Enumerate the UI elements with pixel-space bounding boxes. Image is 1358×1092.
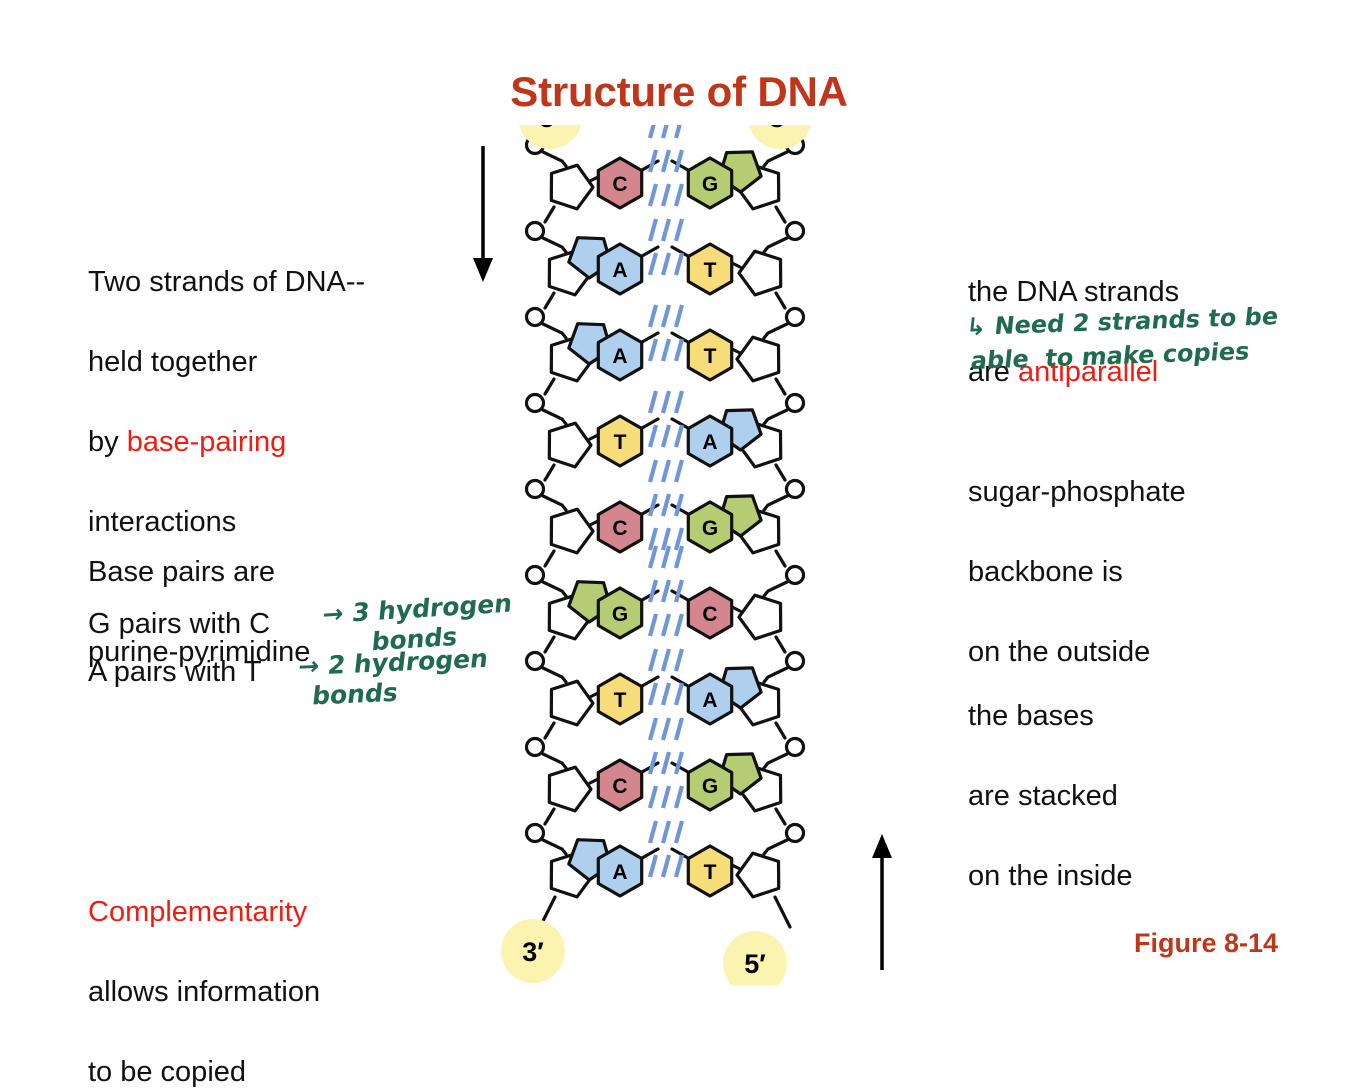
base-letter: T [704,861,717,884]
end-label-text: 3′ [522,937,544,967]
hydrogen-bond-tick [676,786,682,808]
hydrogen-bond-tick [676,425,682,447]
backbone-line2: backbone is [968,556,1123,588]
base-letter: A [702,431,717,454]
hydrogen-bond-tick [663,786,669,808]
hydrogen-bond-tick [663,391,669,413]
base-pairing-highlight: base-pairing [127,426,287,458]
base-letter: G [702,775,718,798]
hydrogen-bond-tick [663,425,669,447]
two-strands-line1: Two strands of DNA-- [88,266,365,298]
hydrogen-bond-tick [650,305,656,327]
hydrogen-bond-tick [650,219,656,241]
text-bases-stacked-inside: the bases are stacked on the inside [968,656,1328,896]
hydrogen-bond-tick [676,683,682,705]
figure-caption: Figure 8-14 [1134,928,1278,959]
end-label-text: 5′ [539,125,561,133]
base-letter: C [612,517,627,540]
hydrogen-bond-tick [650,184,656,206]
base-pair-rung: TA [598,649,761,724]
hydrogen-bond-tick [650,683,656,705]
hydrogen-bond-tick [676,752,682,774]
page-title: Structure of DNA [0,68,1358,116]
bases-stacked-line1: the bases [968,700,1094,732]
hydrogen-bond-tick [676,339,682,361]
base-letter: A [612,345,627,368]
complementarity-line2: allows information [88,976,320,1008]
hydrogen-bond-tick [663,718,669,740]
hydrogen-bond-tick [676,184,682,206]
base-pair-rung: AT [569,305,732,380]
hydrogen-bond-tick [650,150,656,172]
slide-canvas: Structure of DNA Two strands of DNA-- he… [0,0,1358,1006]
complementarity-highlight: Complementarity [88,896,307,928]
hydrogen-bond-tick [676,614,682,636]
hydrogen-bond-tick [663,649,669,671]
dna-double-helix-diagram: CGATATTACGGCTACGAT5′3′3′5′ [495,125,835,985]
base-letter: A [612,259,627,282]
nucleotide-base-t: T [672,244,732,294]
annotation-two-hydrogen-bonds: → 2 hydrogen bonds [293,644,490,713]
base-letter: T [614,431,627,454]
base-letter: T [704,345,717,368]
hydrogen-bond-tick [676,855,682,877]
base-letter: T [614,689,627,712]
nucleotide-base-t: T [598,674,658,724]
base-pair-rung: GC [569,546,732,638]
nucleotide-base-c: C [598,502,658,552]
hydrogen-bond-tick [650,614,656,636]
base-letter: C [702,603,717,626]
hydrogen-bond-tick [650,391,656,413]
hydrogen-bond-tick [663,253,669,275]
base-letter: C [612,173,627,196]
base-pair-rung: CG [598,718,761,810]
hydrogen-bond-tick [650,718,656,740]
end-label-bottom-left: 3′ [501,919,565,983]
hydrogen-bond-tick [676,649,682,671]
text-two-strands-of-dna: Two strands of DNA-- held together by ba… [88,222,488,542]
hydrogen-bond-tick [676,460,682,482]
hydrogen-bond-tick [676,391,682,413]
hydrogen-bond-tick [663,855,669,877]
hydrogen-bond-tick [650,125,656,138]
hydrogen-bond-tick [663,184,669,206]
base-pair-rung: CG [598,460,761,552]
end-label-bottom-right: 5′ [723,931,787,985]
hydrogen-bond-tick [663,305,669,327]
hydrogen-bond-tick [663,125,669,138]
hydrogen-bond-tick [663,580,669,602]
hydrogen-bond-tick [676,580,682,602]
base-letter: G [612,603,628,626]
end-label-text: 5′ [744,949,766,979]
hydrogen-bond-tick [663,339,669,361]
nucleotide-base-t: T [672,330,732,380]
annotation-need-two-strands: ↳ Need 2 strands to be able to make copi… [961,299,1280,378]
hydrogen-bond-tick [663,150,669,172]
text-sugar-phosphate-backbone: sugar-phosphate backbone is on the outsi… [968,432,1328,672]
base-letter: G [702,173,718,196]
hydrogen-bond-tick [650,821,656,843]
hydrogen-bond-tick [650,425,656,447]
bases-stacked-line2: are stacked [968,780,1118,812]
nucleotide-base-c: C [598,760,658,810]
hydrogen-bond-tick [663,460,669,482]
hydrogen-bond-tick [663,752,669,774]
base-pairs-line1: Base pairs are [88,556,275,588]
two-strands-line3-prefix: by [88,426,127,458]
hydrogen-bond-tick [676,305,682,327]
hydrogen-bond-tick [676,718,682,740]
hydrogen-bond-tick [650,253,656,275]
hydrogen-bond-tick [663,494,669,516]
nucleotide-base-c: C [672,588,732,638]
base-pair-rung: AT [569,219,732,294]
two-strands-line2: held together [88,346,257,378]
base-letter: A [702,689,717,712]
hydrogen-bond-tick [663,683,669,705]
complementarity-line3: to be copied [88,1056,246,1088]
hydrogen-bond-tick [650,752,656,774]
hydrogen-bond-tick [650,339,656,361]
hydrogen-bond-tick [650,786,656,808]
base-pair-rung: AT [569,821,732,896]
hydrogen-bond-tick [663,614,669,636]
hydrogen-bond-tick [676,253,682,275]
strand-direction-arrow-up-icon [865,830,899,970]
base-pair-rung: CG [598,125,761,208]
base-pair-rung: TA [598,391,761,466]
hydrogen-bond-tick [663,219,669,241]
hydrogen-bond-tick [663,821,669,843]
backbone-line1: sugar-phosphate [968,476,1186,508]
base-letter: A [612,861,627,884]
bases-stacked-line3: on the inside [968,860,1132,892]
base-letter: G [702,517,718,540]
hydrogen-bond-tick [650,494,656,516]
hydrogen-bond-tick [676,821,682,843]
base-letter: C [612,775,627,798]
hydrogen-bond-tick [650,649,656,671]
base-letter: T [704,259,717,282]
nucleotide-base-c: C [598,158,658,208]
nucleotide-base-t: T [672,846,732,896]
end-label-text: 3′ [769,125,791,133]
nucleotide-base-t: T [598,416,658,466]
hydrogen-bond-tick [650,855,656,877]
hydrogen-bond-tick [676,125,682,138]
hydrogen-bond-tick [650,580,656,602]
hydrogen-bond-tick [676,150,682,172]
text-complementarity: Complementarity allows information to be… [88,852,488,1092]
hydrogen-bond-tick [650,460,656,482]
hydrogen-bond-tick [676,219,682,241]
hydrogen-bond-tick [676,494,682,516]
